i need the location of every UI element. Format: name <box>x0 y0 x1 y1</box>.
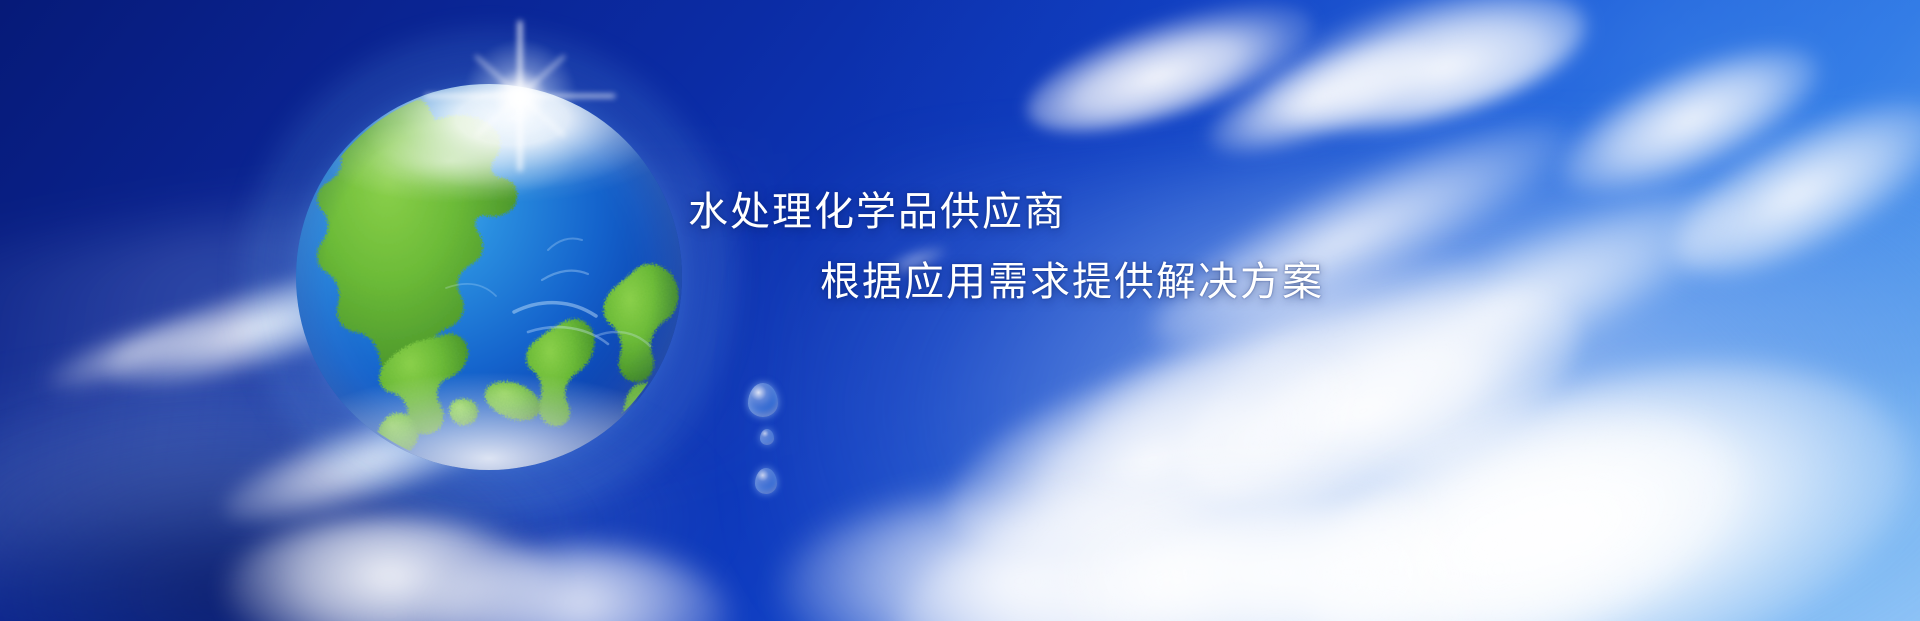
droplet-bead <box>760 429 774 445</box>
water-droplet-icon <box>760 429 774 445</box>
cloud-shape <box>38 301 223 406</box>
cloud-shape <box>225 516 555 621</box>
headline-line-primary: 水处理化学品供应商 <box>688 186 1328 238</box>
droplet-bead <box>748 383 778 417</box>
cloud-shape <box>1651 66 1920 308</box>
hero-banner: 水处理化学品供应商 根据应用需求提供解决方案 <box>0 0 1920 621</box>
cloud-shape <box>1013 0 1328 159</box>
glass-globe-icon <box>296 84 682 470</box>
cloud-shape <box>1250 0 1599 158</box>
cloud-shape <box>871 415 1469 621</box>
cloud-shape <box>1194 16 1446 178</box>
cloud-shape <box>926 310 1375 592</box>
cloud-shape <box>1060 491 1490 621</box>
cloud-shape <box>1206 349 1773 621</box>
globe-glass-shell <box>296 84 682 470</box>
cloud-shape <box>1542 17 1838 222</box>
cloud-shape <box>1271 301 1920 621</box>
water-droplet-icon <box>755 468 777 494</box>
headline-line-secondary: 根据应用需求提供解决方案 <box>688 256 1328 308</box>
cloud-shape <box>780 491 1260 621</box>
banner-headline: 水处理化学品供应商 根据应用需求提供解决方案 <box>688 186 1328 308</box>
droplet-bead <box>755 468 777 494</box>
water-droplet-icon <box>748 383 778 417</box>
cloud-shape <box>430 546 730 621</box>
